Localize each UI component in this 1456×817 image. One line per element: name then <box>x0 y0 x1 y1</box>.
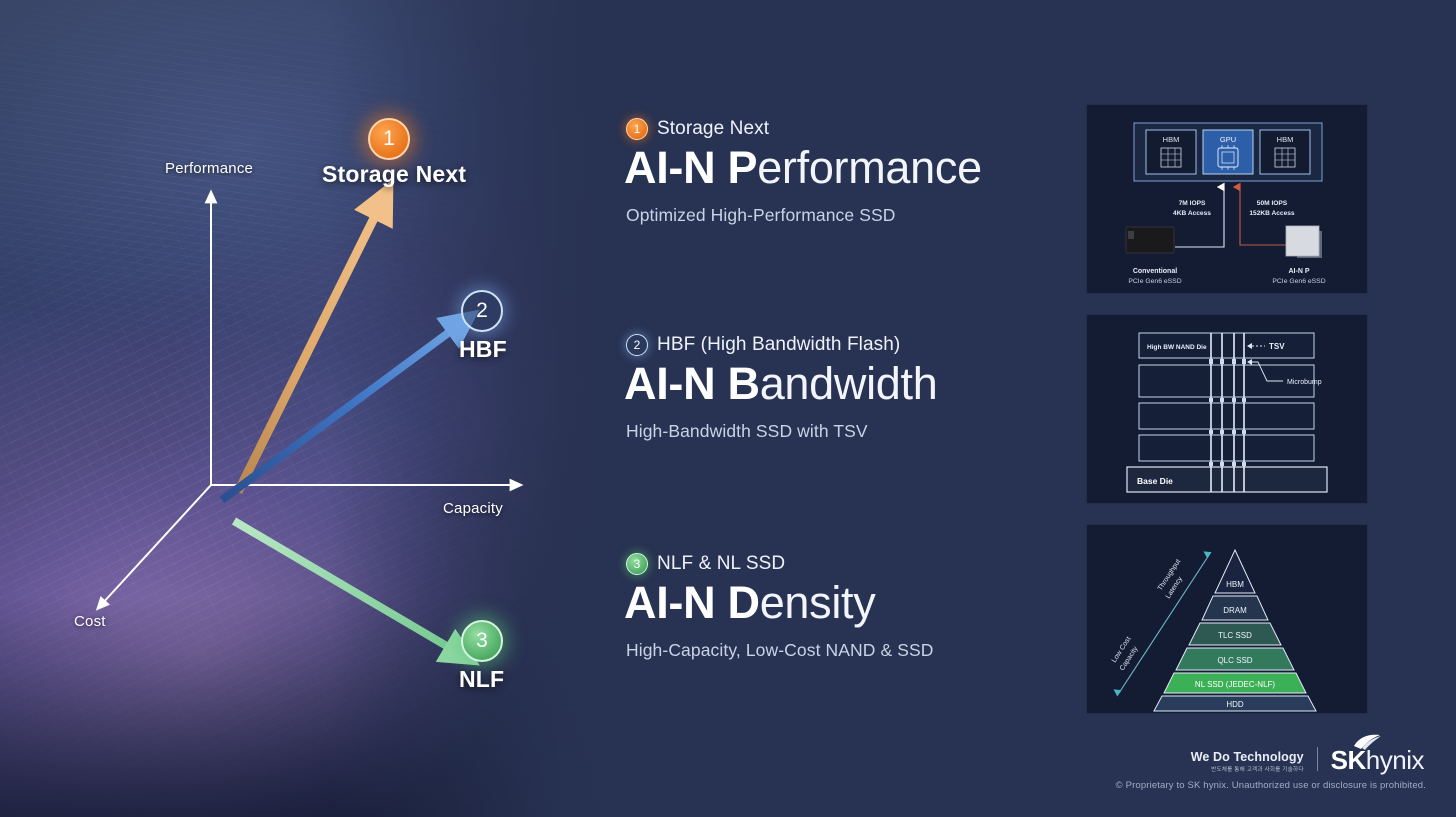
panel1-left-caption-2: PCIe Gen6 eSSD <box>1128 278 1181 285</box>
chart-badge-1[interactable]: 1 <box>368 118 410 160</box>
chart-badge-2[interactable]: 2 <box>461 290 503 332</box>
block-title-3: AI-N Density <box>624 578 1096 628</box>
content-block-bandwidth: 2 HBF (High Bandwidth Flash) AI-N Bandwi… <box>626 334 1096 442</box>
content-column: 1 Storage Next AI-N Performance Optimize… <box>600 0 1456 817</box>
block-title-light-2: andwidth <box>760 358 938 409</box>
slide-canvas: Performance Capacity Cost 1 2 3 Storage … <box>0 0 1456 817</box>
kicker-row-1: 1 Storage Next <box>626 118 1096 140</box>
panel1-left-caption-1: Conventional <box>1133 268 1177 275</box>
block-subtitle-1: Optimized High-Performance SSD <box>626 205 1096 226</box>
axis-label-capacity: Capacity <box>443 500 503 517</box>
axis-label-performance: Performance <box>165 160 253 177</box>
chart-badge-3[interactable]: 3 <box>461 620 503 662</box>
block-title-2: AI-N Bandwidth <box>624 359 1096 409</box>
block-title-1: AI-N Performance <box>624 143 1096 193</box>
chart-label-nlf: NLF <box>459 666 504 693</box>
panel1-chip-2: HBM <box>1277 135 1294 144</box>
footer: We Do Technology 반도체를 통해 고객과 사회를 기술하다 SK… <box>1116 747 1426 791</box>
panel1-chip-1: GPU <box>1220 135 1236 144</box>
block-title-light-1: erformance <box>757 142 982 193</box>
panel1-right-caption-1: AI-N P <box>1289 268 1310 275</box>
panel1-left-metric-2: 4KB Access <box>1173 210 1211 217</box>
kicker-label-2: HBF (High Bandwidth Flash) <box>657 334 900 356</box>
panel2-tsv-label: TSV <box>1269 342 1285 351</box>
diagram-performance[interactable]: HBM GPU HBM <box>1086 104 1368 294</box>
panel1-right-metric-2: 152KB Access <box>1249 210 1295 217</box>
tagline: We Do Technology <box>1191 750 1304 764</box>
axis-diagram <box>0 0 600 817</box>
diagram-bandwidth[interactable]: High BW NAND Die TSV Microbump Base Die <box>1086 314 1368 504</box>
sk-wing-icon <box>1352 734 1382 750</box>
tagline-group: We Do Technology 반도체를 통해 고객과 사회를 기술하다 <box>1191 750 1304 773</box>
sk-hynix-logo: SKhynix <box>1331 747 1426 773</box>
kicker-row-2: 2 HBF (High Bandwidth Flash) <box>626 334 1096 356</box>
panel1-chip-0: HBM <box>1163 135 1180 144</box>
brand-divider <box>1317 747 1318 771</box>
kicker-badge-2: 2 <box>626 334 648 356</box>
block-subtitle-3: High-Capacity, Low-Cost NAND & SSD <box>626 640 1096 661</box>
ain-ssd-icon <box>1286 226 1319 256</box>
panel2-base-die-label: Base Die <box>1137 476 1173 486</box>
panel3-tier-2: TLC SSD <box>1218 631 1252 640</box>
panel2-top-die-label: High BW NAND Die <box>1147 344 1207 351</box>
panel3-tier-3: QLC SSD <box>1217 656 1252 665</box>
block-title-light-3: ensity <box>760 577 876 628</box>
panel1-right-caption-2: PCIe Gen6 eSSD <box>1272 278 1325 285</box>
chart-label-storage-next: Storage Next <box>322 161 466 188</box>
content-block-density: 3 NLF & NL SSD AI-N Density High-Capacit… <box>626 553 1096 661</box>
diagram-density[interactable]: Throughput Latency Low Cost Capacity <box>1086 524 1368 714</box>
kicker-label-1: Storage Next <box>657 118 769 140</box>
kicker-label-3: NLF & NL SSD <box>657 553 785 575</box>
tagline-korean: 반도체를 통해 고객과 사회를 기술하다 <box>1191 765 1304 773</box>
panel3-tier-0: HBM <box>1226 580 1244 589</box>
kicker-badge-1: 1 <box>626 118 648 140</box>
conventional-ssd-icon <box>1126 227 1174 253</box>
kicker-row-3: 3 NLF & NL SSD <box>626 553 1096 575</box>
brand-row: We Do Technology 반도체를 통해 고객과 사회를 기술하다 SK… <box>1116 747 1426 773</box>
panel1-left-metric-1: 7M IOPS <box>1179 200 1206 207</box>
panel2-microbump-label: Microbump <box>1287 379 1322 386</box>
panel1-right-metric-1: 50M IOPS <box>1257 200 1288 207</box>
block-title-bold-3: AI-N D <box>624 577 760 628</box>
panel3-tier-1: DRAM <box>1223 606 1247 615</box>
copyright-text: © Proprietary to SK hynix. Unauthorized … <box>1116 780 1426 791</box>
block-title-bold-2: AI-N B <box>624 358 760 409</box>
block-subtitle-2: High-Bandwidth SSD with TSV <box>626 421 1096 442</box>
content-block-performance: 1 Storage Next AI-N Performance Optimize… <box>626 118 1096 226</box>
kicker-badge-3: 3 <box>626 553 648 575</box>
panel3-tier-4: NL SSD (JEDEC-NLF) <box>1195 680 1275 689</box>
chart-label-hbf: HBF <box>459 336 507 363</box>
axis-label-cost: Cost <box>74 613 106 630</box>
panel3-tier-5: HDD <box>1226 700 1244 709</box>
block-title-bold-1: AI-N P <box>624 142 757 193</box>
